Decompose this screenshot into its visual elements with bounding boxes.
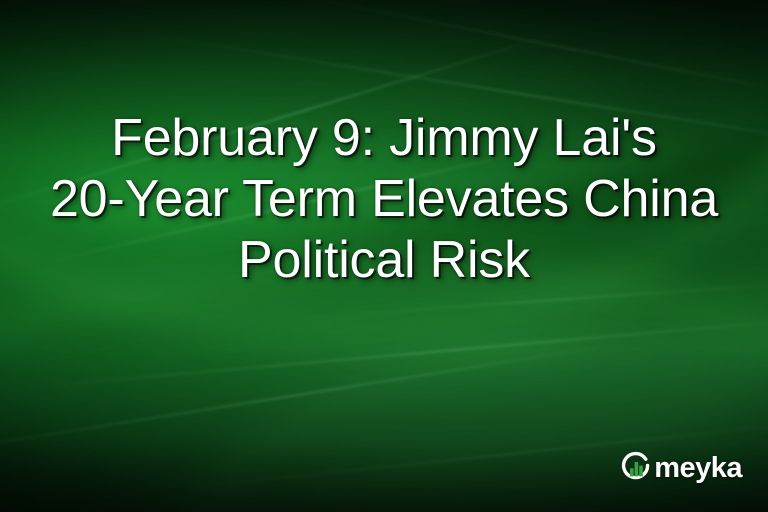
headline-title: February 9: Jimmy Lai's 20-Year Term Ele… bbox=[0, 108, 768, 291]
meyka-logo[interactable]: meyka bbox=[619, 450, 742, 486]
light-streak bbox=[255, 0, 768, 95]
meyka-bar-chart-ring-icon bbox=[619, 451, 653, 485]
meyka-wordmark: meyka bbox=[654, 454, 742, 483]
promo-card: February 9: Jimmy Lai's 20-Year Term Ele… bbox=[0, 0, 768, 512]
light-streak bbox=[0, 345, 606, 456]
light-streak bbox=[21, 317, 768, 389]
